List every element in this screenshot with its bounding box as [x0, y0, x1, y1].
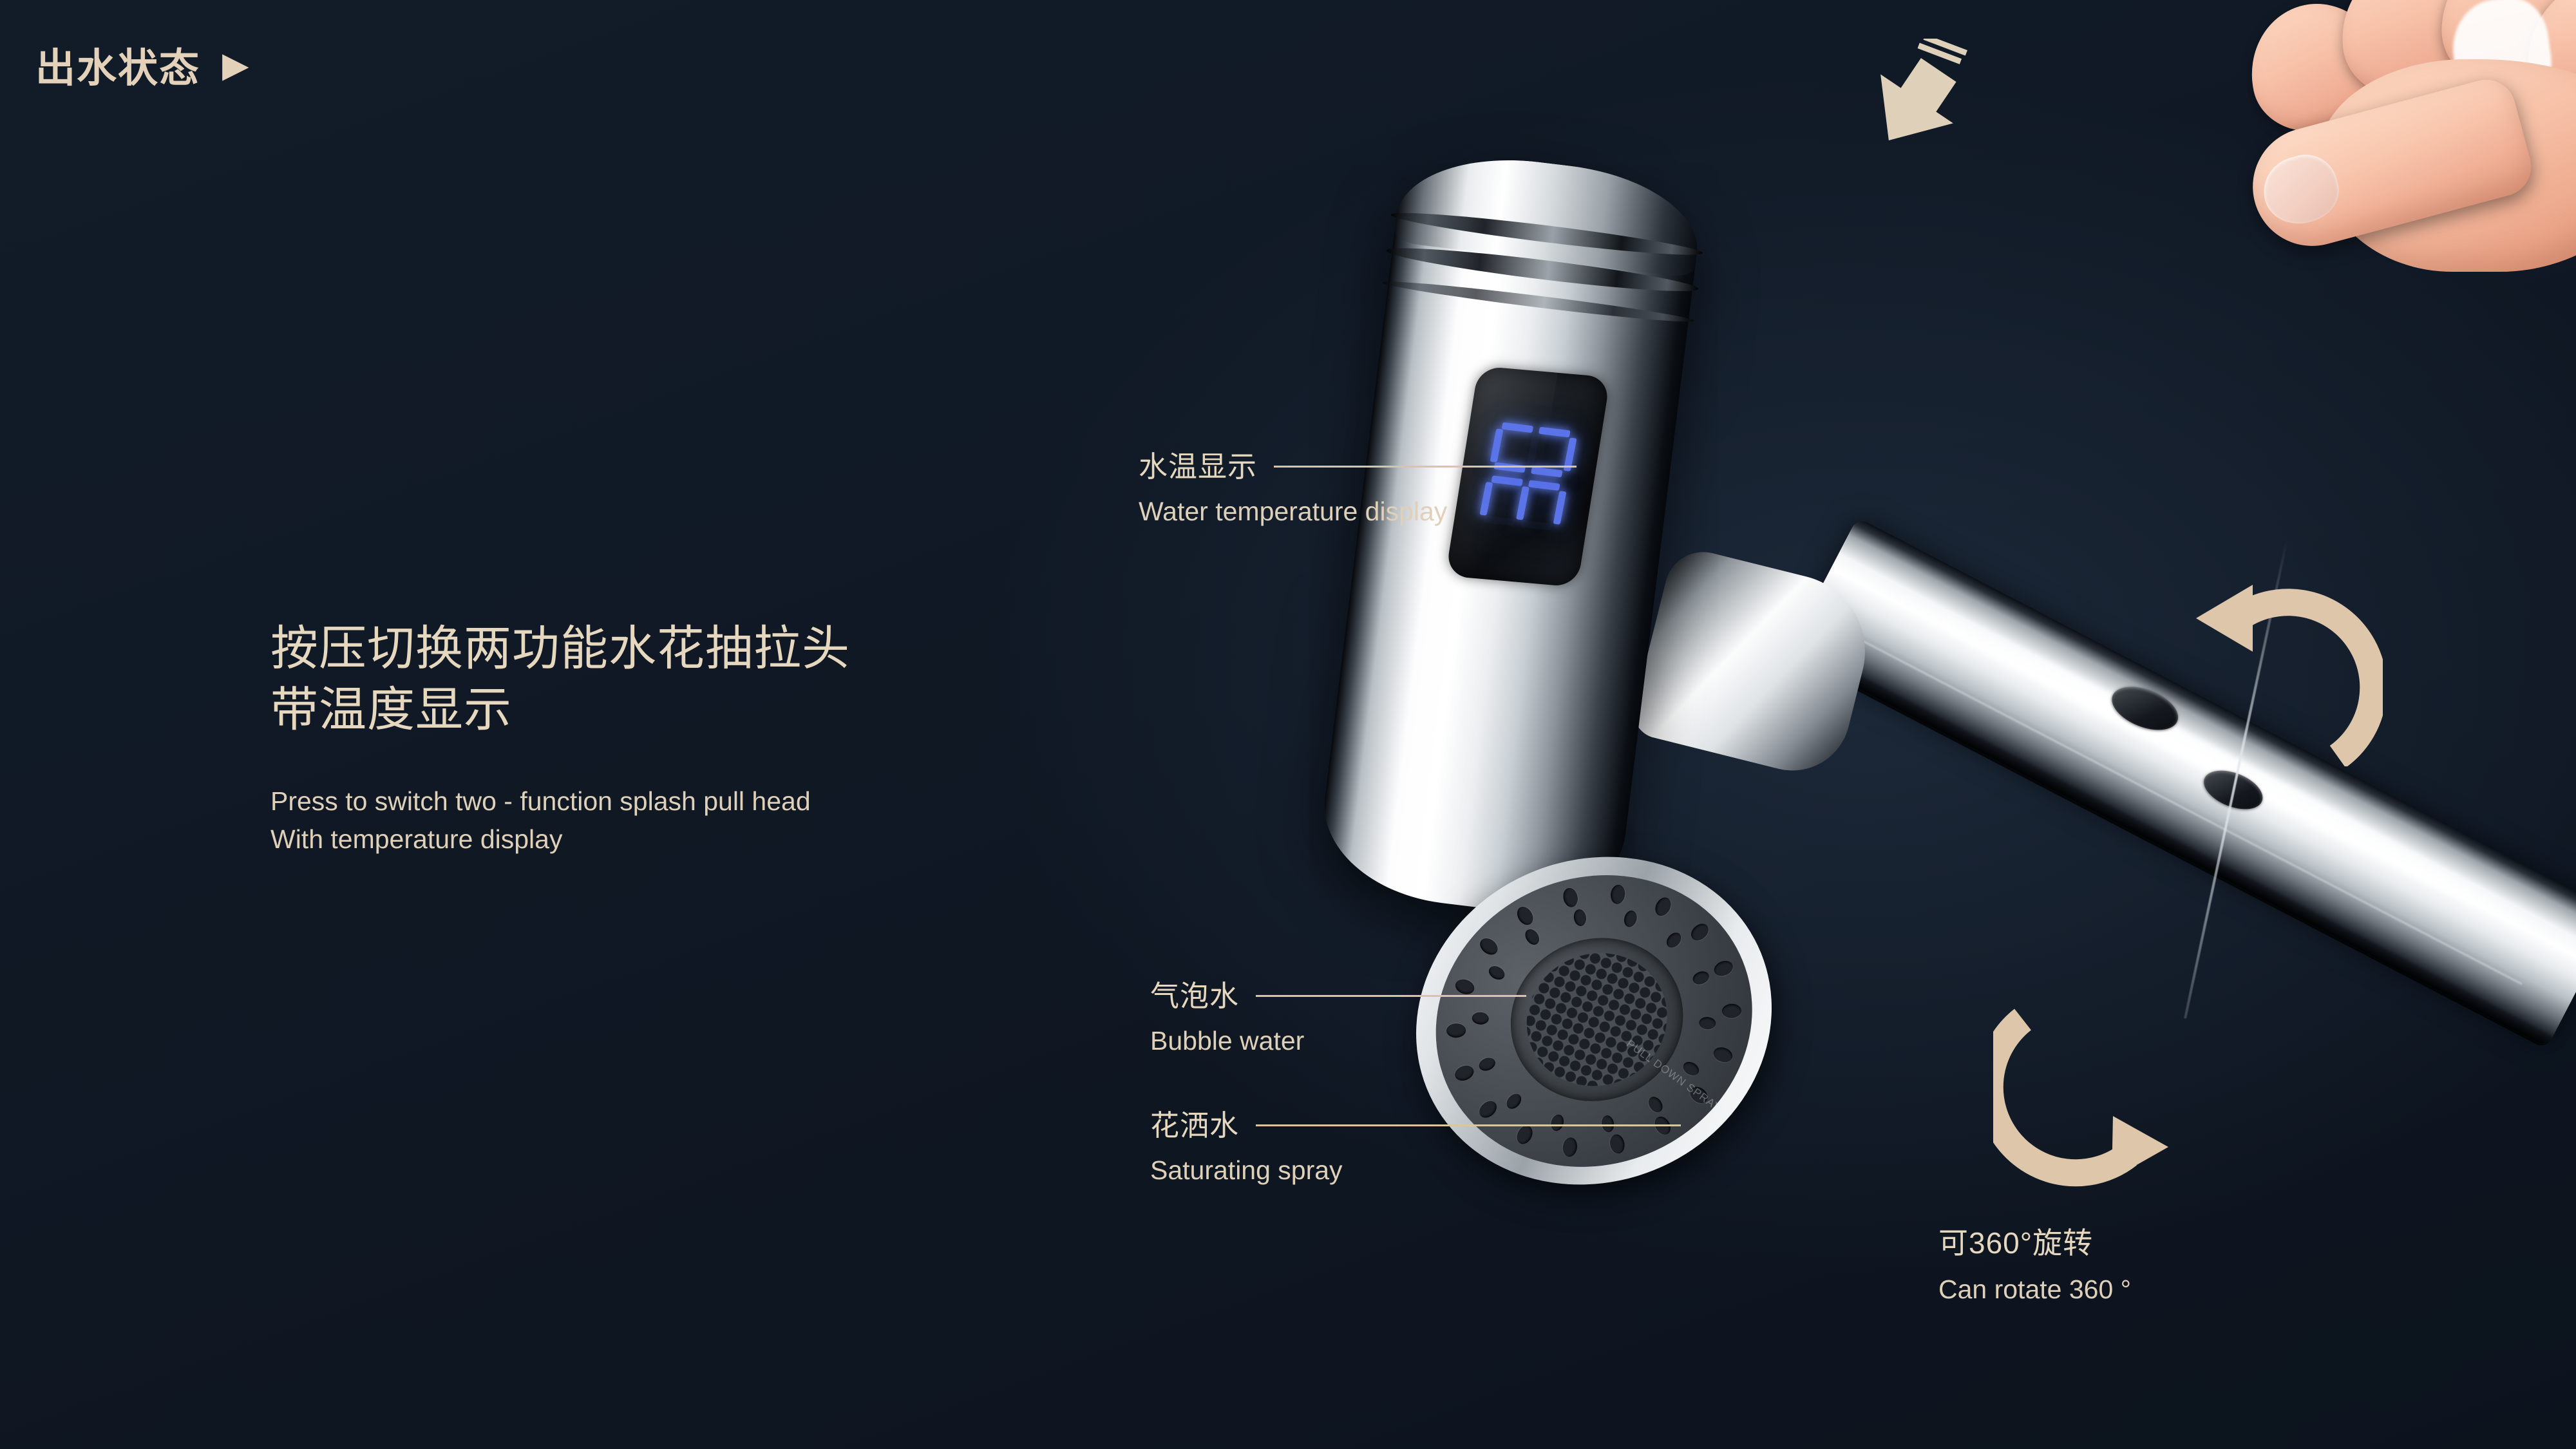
callout-cn-row: 气泡水 — [1150, 980, 1526, 1012]
lead-headline-cn-line1: 按压切换两功能水花抽拉头 — [270, 618, 850, 679]
callout-label-cn: 可360°旋转 — [1938, 1227, 2131, 1260]
lead-headline-cn-line2: 带温度显示 — [270, 679, 850, 741]
callout-label-cn: 花洒水 — [1150, 1110, 1239, 1142]
callout-label-en: Bubble water — [1150, 1027, 1526, 1056]
callout-label-cn: 气泡水 — [1150, 980, 1239, 1012]
callout-label-en: Can rotate 360 ° — [1938, 1275, 2131, 1304]
page-title: 出水状态 — [35, 35, 200, 93]
product-feature-slide: PULL DOWN SPRAY HEAD — [0, 0, 2576, 1449]
callout-label-en: Saturating spray — [1150, 1156, 1681, 1185]
lead-copy-block: 按压切换两功能水花抽拉头 带温度显示 Press to switch two -… — [270, 618, 850, 858]
callout-cn-row: 水温显示 — [1139, 451, 1577, 483]
callout-label-cn: 水温显示 — [1139, 451, 1257, 483]
slide-header: 出水状态 ▶ — [35, 35, 249, 93]
lead-subcopy-en-line2: With temperature display — [270, 820, 850, 858]
callout-water-temperature-display: 水温显示 Water temperature display — [1139, 451, 1577, 526]
leader-line — [1256, 995, 1526, 997]
play-triangle-icon: ▶ — [222, 48, 249, 82]
lead-subcopy-en-line1: Press to switch two - function splash pu… — [270, 782, 850, 820]
leader-line — [1274, 466, 1577, 468]
leader-line — [1256, 1124, 1681, 1126]
callout-saturating-spray: 花洒水 Saturating spray — [1150, 1110, 1681, 1185]
callout-cn-row: 花洒水 — [1150, 1110, 1681, 1142]
callout-rotate-360: 可360°旋转 Can rotate 360 ° — [1938, 1227, 2131, 1304]
callout-label-en: Water temperature display — [1139, 497, 1577, 526]
lead-subcopy-en: Press to switch two - function splash pu… — [270, 782, 850, 858]
callout-bubble-water: 气泡水 Bubble water — [1150, 980, 1526, 1056]
